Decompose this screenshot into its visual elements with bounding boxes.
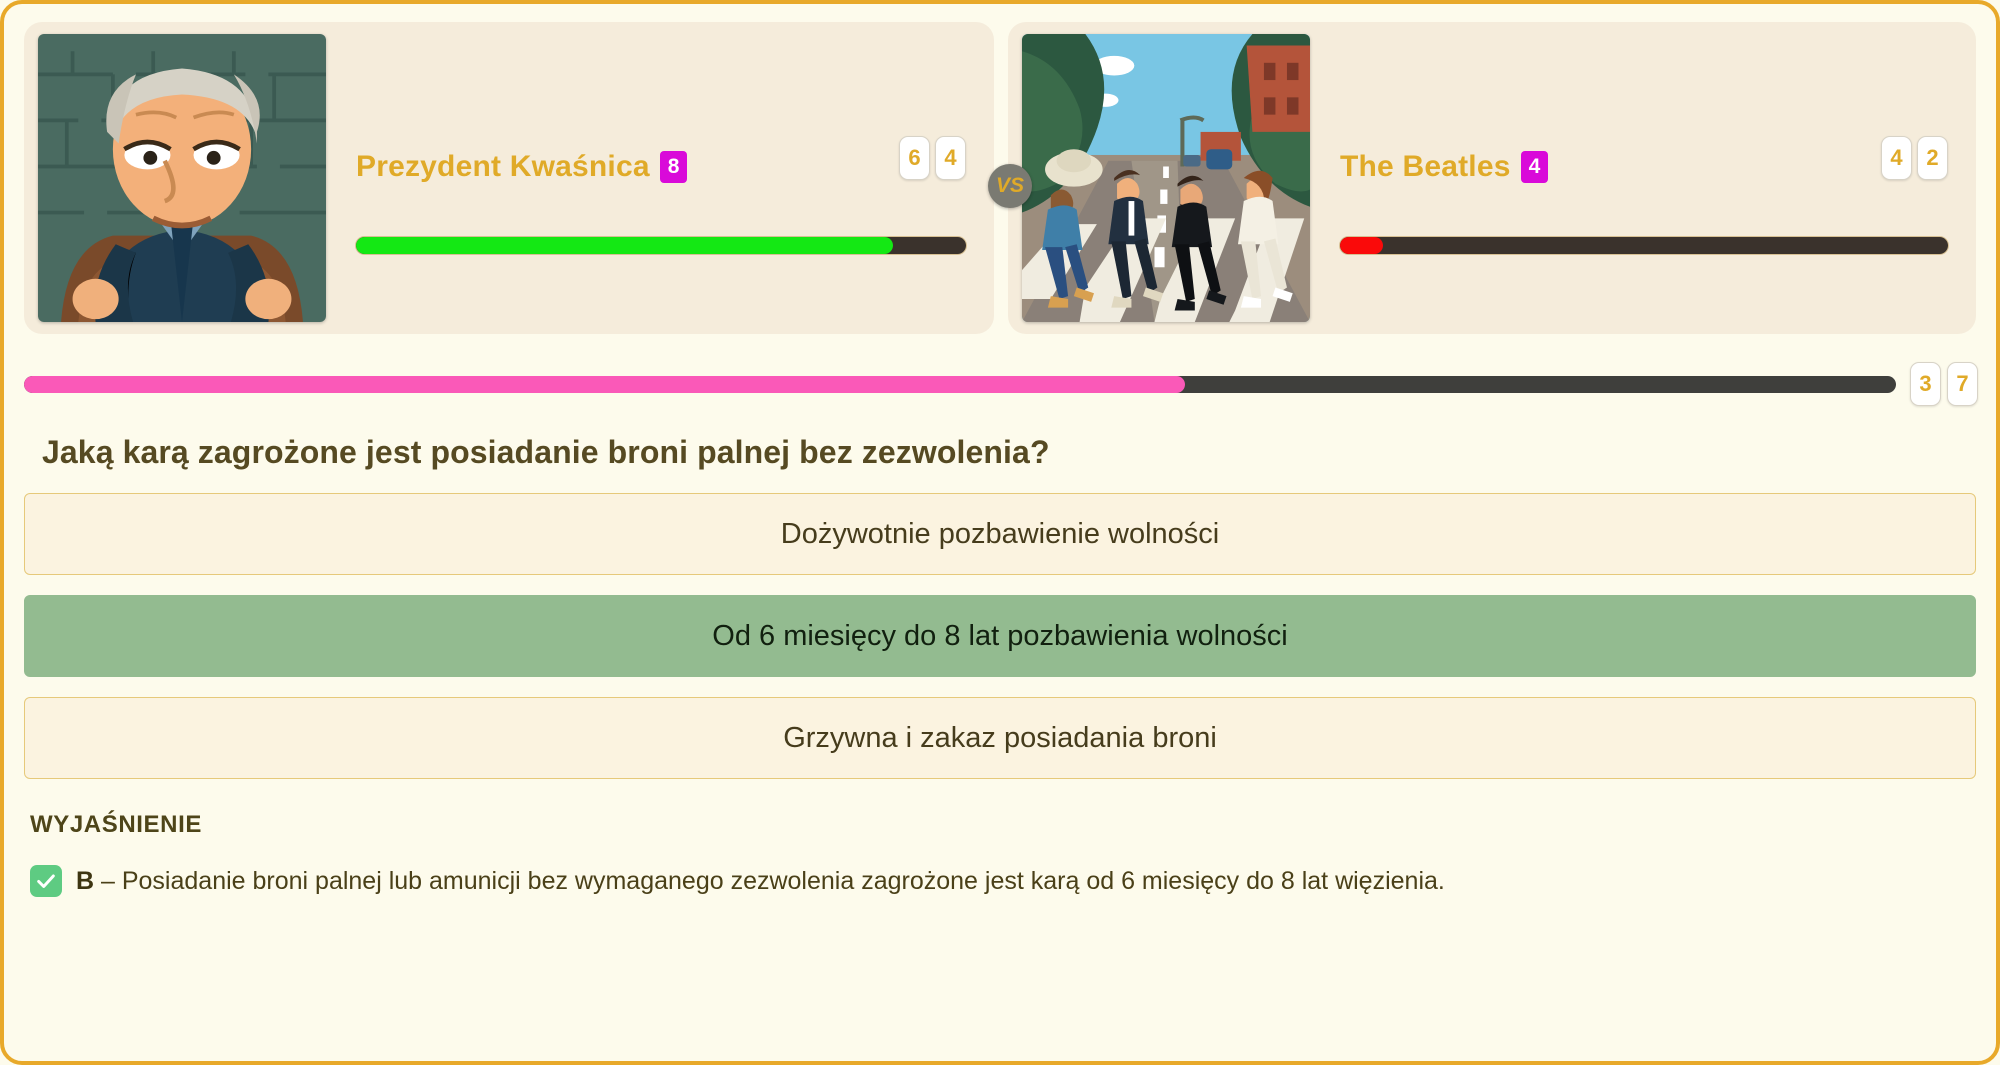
fighter-card-left[interactable]: Prezydent Kwaśnica 8 6 4 bbox=[24, 22, 994, 334]
fighter-body-left: Prezydent Kwaśnica 8 6 4 bbox=[326, 34, 980, 322]
score-box: 3 bbox=[1910, 362, 1941, 406]
fighter-body-right: The Beatles 4 4 2 bbox=[1310, 34, 1962, 322]
round-progress-bar bbox=[24, 376, 1896, 393]
president-avatar-icon bbox=[38, 34, 326, 322]
explanation-detail: – Posiadanie broni palnej lub amunicji b… bbox=[94, 867, 1445, 895]
fighter-name-row-left: Prezydent Kwaśnica 8 bbox=[356, 150, 966, 184]
answer-option-b[interactable]: Od 6 miesięcy do 8 lat pozbawienia wolno… bbox=[24, 595, 1976, 677]
score-box: 2 bbox=[1917, 136, 1948, 180]
quiz-battle-screen: Prezydent Kwaśnica 8 6 4 VS bbox=[0, 0, 2000, 1065]
round-score-group: 3 7 bbox=[1910, 362, 1978, 406]
score-group-left: 6 4 bbox=[899, 136, 966, 180]
answer-option-a[interactable]: Dożywotnie pozbawienie wolności bbox=[24, 493, 1976, 575]
fighter-name-row-right: The Beatles 4 bbox=[1340, 150, 1948, 184]
fighter-level-badge: 4 bbox=[1521, 151, 1549, 183]
fighter-level-badge: 8 bbox=[660, 151, 688, 183]
fighter-name: Prezydent Kwaśnica bbox=[356, 150, 650, 184]
fighter-name: The Beatles bbox=[1340, 150, 1511, 184]
hp-bar-fill bbox=[1340, 237, 1383, 254]
hp-bar-left bbox=[356, 237, 966, 254]
question-text: Jaką karą zagrożone jest posiadanie bron… bbox=[4, 412, 1996, 483]
score-box: 7 bbox=[1947, 362, 1978, 406]
vs-badge: VS bbox=[988, 164, 1032, 208]
fighter-card-right[interactable]: The Beatles 4 4 2 bbox=[1008, 22, 1976, 334]
score-box: 4 bbox=[935, 136, 966, 180]
round-progress-row: 3 7 bbox=[4, 348, 1996, 412]
round-progress-fill bbox=[24, 376, 1185, 393]
score-box: 6 bbox=[899, 136, 930, 180]
score-box: 4 bbox=[1881, 136, 1912, 180]
hp-bar-right bbox=[1340, 237, 1948, 254]
hp-bar-fill bbox=[356, 237, 893, 254]
explanation-title: WYJAŚNIENIE bbox=[30, 811, 1970, 839]
explanation-text: B – Posiadanie broni palnej lub amunicji… bbox=[76, 867, 1445, 896]
explanation-section: WYJAŚNIENIE B – Posiadanie broni palnej … bbox=[4, 779, 1996, 897]
beatles-album-icon bbox=[1022, 34, 1310, 322]
explanation-body: B – Posiadanie broni palnej lub amunicji… bbox=[30, 865, 1970, 897]
check-mark-icon bbox=[30, 865, 62, 897]
versus-strip: Prezydent Kwaśnica 8 6 4 VS bbox=[4, 4, 1996, 348]
answer-option-c[interactable]: Grzywna i zakaz posiadania broni bbox=[24, 697, 1976, 779]
explanation-answer-letter: B bbox=[76, 867, 94, 895]
answer-list: Dożywotnie pozbawienie wolności Od 6 mie… bbox=[4, 483, 1996, 779]
score-group-right: 4 2 bbox=[1881, 136, 1948, 180]
